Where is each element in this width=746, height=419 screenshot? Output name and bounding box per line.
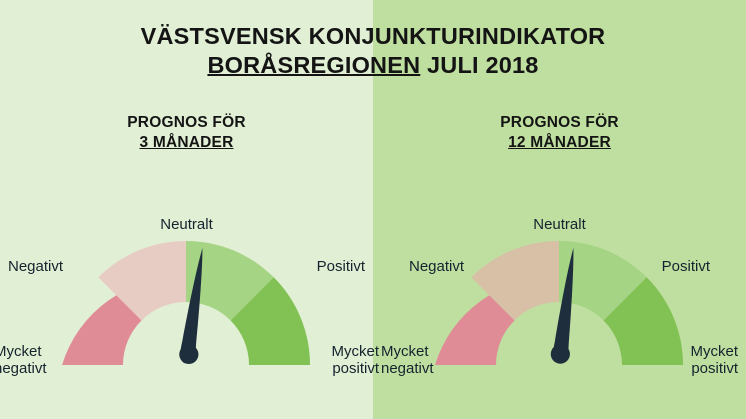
panel-heading-line-1: PROGNOS FÖR: [0, 113, 373, 133]
gauge-label-very-positive-line-1: Mycket: [690, 343, 738, 360]
panel-heading-period: 3 MÅNADER: [140, 134, 234, 151]
gauge-3-manader: Neutralt Negativt Positivt Mycket negati…: [0, 205, 373, 419]
gauge-label-neutral: Neutralt: [0, 216, 373, 233]
gauge-label-negative: Negativt: [8, 258, 63, 275]
gauge-label-very-negative: Mycket negativt: [0, 343, 47, 377]
gauge-label-very-negative: Mycket negativt: [381, 343, 434, 377]
gauge-label-very-negative-line-1: Mycket: [381, 343, 434, 360]
gauge-dial-3-manader: [0, 205, 373, 419]
gauge-label-negative: Negativt: [409, 258, 464, 275]
panel-heading-period: 12 MÅNADER: [508, 134, 611, 151]
gauge-dial-12-manader: [373, 205, 746, 419]
gauge-label-very-negative-line-1: Mycket: [0, 343, 47, 360]
panel-heading-line-2: 12 MÅNADER: [373, 133, 746, 153]
title-region-underlined: BORÅSREGIONEN: [207, 52, 420, 78]
gauge-label-very-positive: Mycket positivt: [690, 343, 738, 377]
gauge-label-positive: Positivt: [317, 258, 365, 275]
panel-heading-line-2: 3 MÅNADER: [0, 133, 373, 153]
panel-heading-3-manader: PROGNOS FÖR 3 MÅNADER: [0, 113, 373, 153]
title-line-1: VÄSTSVENSK KONJUNKTURINDIKATOR: [0, 22, 746, 51]
infographic-root: VÄSTSVENSK KONJUNKTURINDIKATOR BORÅSREGI…: [0, 0, 746, 419]
gauge-label-very-positive-line-2: positivt: [690, 360, 738, 377]
title-period: JULI 2018: [420, 52, 538, 78]
panel-heading-line-1: PROGNOS FÖR: [373, 113, 746, 133]
gauge-label-positive: Positivt: [662, 258, 710, 275]
gauge-label-very-negative-line-2: negativt: [0, 360, 47, 377]
gauge-needle-hub: [177, 343, 201, 367]
title-block: VÄSTSVENSK KONJUNKTURINDIKATOR BORÅSREGI…: [0, 22, 746, 79]
gauge-label-very-negative-line-2: negativt: [381, 360, 434, 377]
gauge-label-very-positive-line-1: Mycket: [331, 343, 379, 360]
panel-heading-12-manader: PROGNOS FÖR 12 MÅNADER: [373, 113, 746, 153]
gauge-12-manader: Neutralt Negativt Positivt Mycket negati…: [373, 205, 746, 419]
gauge-label-neutral: Neutralt: [373, 216, 746, 233]
gauge-label-very-positive: Mycket positivt: [331, 343, 379, 377]
title-line-2: BORÅSREGIONEN JULI 2018: [0, 51, 746, 80]
gauge-label-very-positive-line-2: positivt: [331, 360, 379, 377]
